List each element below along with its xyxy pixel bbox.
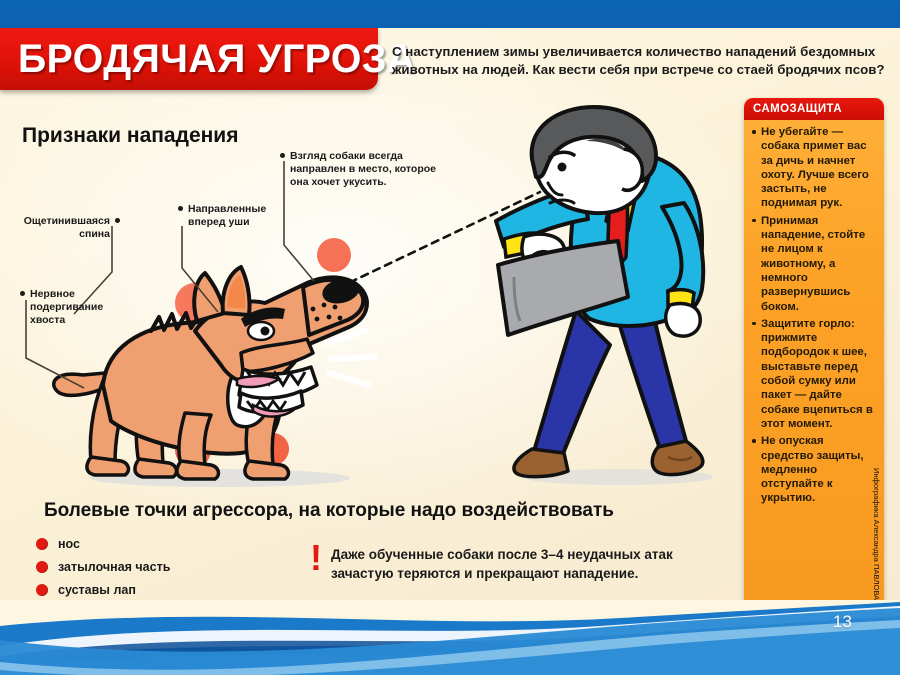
credit-line: Инфографика Александра ПАВЛОВА	[872, 468, 881, 600]
gaze-line	[330, 180, 580, 305]
man-hand-right	[666, 304, 700, 337]
pain-points-list: нос затылочная часть суставы лап	[36, 532, 170, 601]
callout-gaze: Взгляд собаки всегда направлен в место, …	[280, 150, 440, 189]
callout-dot-icon	[280, 153, 285, 158]
title-banner: БРОДЯЧАЯ УГРОЗА	[0, 28, 378, 90]
callout-ears: Направленные вперед уши	[178, 203, 283, 229]
self-defense-header: САМОЗАЩИТА	[744, 98, 884, 120]
signs-section-heading: Признаки нападения	[22, 124, 238, 148]
list-item: суставы лап	[36, 578, 170, 601]
pain-points-heading: Болевые точки агрессора, на которые надо…	[44, 500, 614, 522]
list-item: Защитите горло: прижмите подбородок к ше…	[750, 317, 878, 431]
list-item: Принимая нападение, стойте не лицом к жи…	[750, 214, 878, 314]
red-bullet-icon	[36, 561, 48, 573]
callout-dot-icon	[178, 206, 183, 211]
footer-wave	[0, 600, 900, 675]
man-shoe-left	[514, 449, 568, 477]
self-defense-title: САМОЗАЩИТА	[753, 103, 842, 115]
man-leg-left	[534, 311, 610, 461]
callout-dot-icon	[115, 218, 120, 223]
leader-line-ears	[178, 222, 238, 317]
dog-eye	[261, 327, 270, 336]
page-number: 13	[833, 612, 852, 632]
self-defense-panel: САМОЗАЩИТА Не убегайте — собака примет в…	[744, 98, 884, 608]
bark-rays	[327, 331, 375, 385]
callout-tail: Нервное подергивание хвоста	[20, 288, 120, 327]
header-lede: С наступлением зимы увеличивается количе…	[392, 43, 892, 79]
callout-back: Ощетинившаяся спина	[20, 215, 120, 241]
man-shoe-right	[652, 441, 703, 475]
red-bullet-icon	[36, 584, 48, 596]
infographic-page: БРОДЯЧАЯ УГРОЗА С наступлением зимы увел…	[0, 0, 900, 675]
man-eye	[558, 163, 567, 172]
self-defense-list: Не убегайте — собака примет вас за дичь …	[744, 120, 884, 506]
red-bullet-icon	[36, 538, 48, 550]
list-item: затылочная часть	[36, 555, 170, 578]
page-title: БРОДЯЧАЯ УГРОЗА	[18, 34, 416, 84]
list-item: Не опуская средство защиты, медленно отс…	[750, 434, 878, 505]
callout-dot-icon	[20, 291, 25, 296]
list-item: нос	[36, 532, 170, 555]
note-box: ! Даже обученные собаки после 3–4 неудач…	[310, 545, 710, 583]
list-item: Не убегайте — собака примет вас за дичь …	[750, 125, 878, 211]
man-leg-right	[618, 317, 686, 449]
exclamation-icon: !	[310, 543, 322, 573]
